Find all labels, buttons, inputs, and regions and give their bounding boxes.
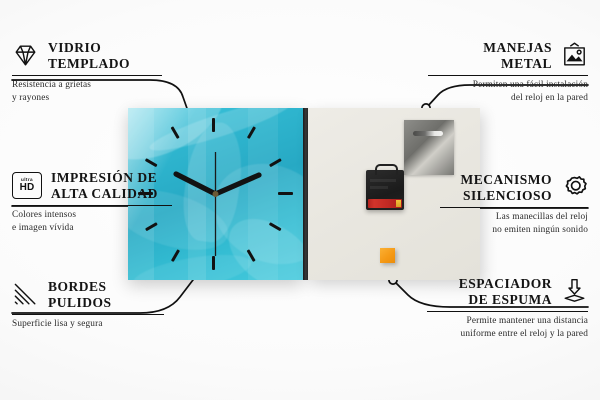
clock-hand-hour [176,174,216,194]
feature-divider [12,205,172,207]
feature-desc-line1: Resistencia a grietas [12,79,162,92]
feature-desc-line1: Permiten una fácil instalación [428,79,588,92]
hanger-keyhole-slot [413,131,443,136]
feature-divider [440,207,588,209]
hanging-picture-frame-icon [561,42,588,69]
infographic-canvas: VIDRIO TEMPLADO Resistencia a grietas y … [0,0,600,400]
mechanism-hanging-loop [375,164,398,175]
feature-desc-line1: Colores intensos [12,209,172,222]
feature-title-line1: ESPACIADOR [459,276,552,292]
feature-desc-line1: Las manecillas del reloj [440,211,588,224]
feature-title-line1: MANEJAS [483,40,552,56]
feature-bordes-pulidos: BORDES PULIDOS Superficie lisa y segura [12,279,164,331]
feature-title-line1: IMPRESIÓN DE [51,170,158,186]
quartz-mechanism-box [366,170,404,210]
diamond-icon [12,42,39,69]
foam-spacer [380,248,395,263]
feature-title-line2: PULIDOS [48,295,112,311]
feature-desc-line2: del reloj en la pared [428,92,588,105]
feature-manejas-metal: MANEJAS METAL Permiten una fácil instala… [428,40,588,105]
gear-icon [561,174,588,201]
feature-title-line1: BORDES [48,279,112,295]
feature-title-line2: SILENCIOSO [461,188,553,204]
ultra-hd-icon-large-text: HD [20,183,35,193]
feature-divider [427,311,588,313]
feature-divider [428,75,588,77]
feature-title-line1: MECANISMO [461,172,553,188]
feature-divider [12,75,162,77]
feature-impresion-alta-calidad: ultra HD IMPRESIÓN DE ALTA CALIDAD Color… [12,170,172,235]
feature-desc-line2: no emiten ningún sonido [440,224,588,237]
feature-desc-line2: e imagen vívida [12,222,172,235]
feature-desc-line2: uniforme entre el reloj y la pared [427,328,588,341]
clock-hand-minute [216,175,260,194]
feature-mecanismo-silencioso: MECANISMO SILENCIOSO Las manecillas del … [440,172,588,237]
feature-title-line2: DE ESPUMA [459,292,552,308]
feature-title-line2: ALTA CALIDAD [51,186,158,202]
feature-title-line2: METAL [483,56,552,72]
feature-vidrio-templado: VIDRIO TEMPLADO Resistencia a grietas y … [12,40,162,105]
feature-desc-line2: y rayones [12,92,162,105]
feature-espaciador-espuma: ESPACIADOR DE ESPUMA Permite mantener un… [427,276,588,341]
battery-indicator [368,199,402,208]
arrow-down-layers-icon [561,278,588,305]
feature-title-line2: TEMPLADO [48,56,130,72]
ultra-hd-icon: ultra HD [12,172,42,199]
feature-title-line1: VIDRIO [48,40,130,56]
feature-divider [12,314,164,316]
diagonal-stripes-icon [12,281,39,308]
feature-desc-line1: Permite mantener una distancia [427,315,588,328]
clock-center-cap [213,191,219,197]
metal-hanger-plate [404,120,454,175]
feature-desc-line1: Superficie lisa y segura [12,318,164,331]
